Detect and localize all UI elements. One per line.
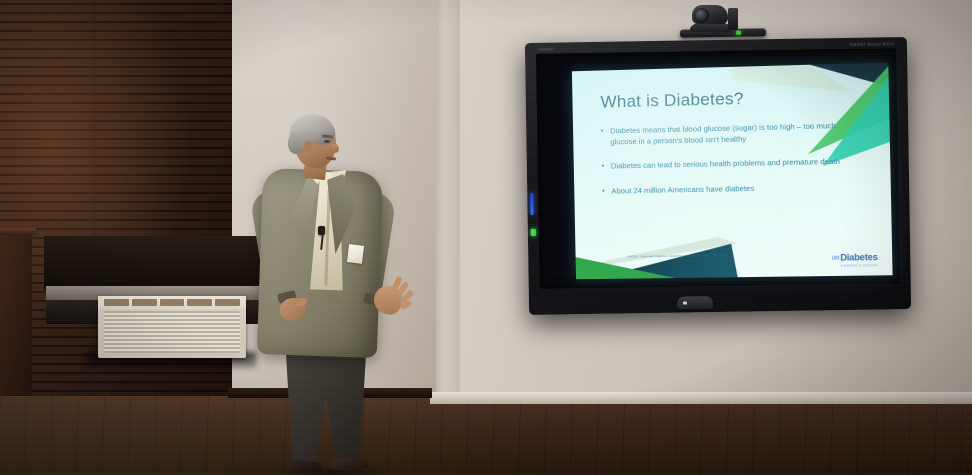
presenter	[252, 108, 432, 475]
hvac-top-vents	[98, 296, 246, 309]
hvac-vent	[160, 299, 185, 306]
presentation-slide: What is Diabetes? Diabetes means that bl…	[572, 63, 893, 280]
display-ir-receiver-module[interactable]	[677, 296, 713, 310]
display-status-led-icon	[530, 193, 533, 215]
display-brand-left: SMART	[539, 47, 555, 52]
presenter-eye	[324, 140, 330, 143]
slide-bullet: Diabetes can lead to serious health prob…	[602, 156, 855, 173]
slide-title: What is Diabetes?	[600, 89, 744, 113]
presentation-room-photo: SMART SMART Board 8000i What is Diabetes…	[0, 0, 972, 475]
wood-floor	[0, 396, 972, 475]
display-screen-area: What is Diabetes? Diabetes means that bl…	[536, 48, 900, 289]
wood-wall-seam	[92, 0, 95, 410]
presenter-pocket-card	[347, 244, 364, 264]
hvac-vent	[104, 299, 129, 306]
ir-sensor-icon	[683, 302, 687, 305]
lectern-top	[0, 228, 36, 235]
presenter-nose	[332, 144, 339, 153]
slide-logo-text: Diabetes	[840, 252, 878, 263]
baseboard-right	[430, 392, 972, 404]
slide-bullet: About 24 million Americans have diabetes	[602, 181, 855, 197]
hvac-vent	[215, 299, 240, 306]
slide-bullet: Diabetes means that blood glucose (sugar…	[601, 120, 854, 148]
lectern	[0, 228, 32, 410]
slide-logo-name: UMDiabetes	[831, 252, 877, 263]
hvac-unit	[98, 296, 246, 358]
camera-lens-icon	[694, 8, 709, 23]
slide-bullet-list: Diabetes means that blood glucose (sugar…	[601, 120, 856, 210]
presenter-shoe-left	[286, 460, 322, 473]
slide-logo-subtitle: RESEARCH CENTER	[832, 263, 878, 268]
camera-status-led-icon	[736, 31, 741, 35]
interactive-flat-panel-display[interactable]: SMART SMART Board 8000i What is Diabetes…	[525, 37, 911, 315]
presenter-ear	[304, 141, 312, 152]
camera-bracket	[728, 8, 738, 30]
slide-logo-prefix: UM	[832, 255, 840, 261]
slide-logo: UMDiabetes RESEARCH CENTER	[831, 252, 877, 268]
hvac-vent	[187, 299, 212, 306]
display-power-led-icon	[531, 229, 536, 236]
presenter-trousers	[280, 346, 372, 470]
display-brand-right: SMART Board 8000i	[850, 41, 895, 47]
hvac-vent	[132, 299, 157, 306]
hvac-grille	[104, 311, 240, 353]
presenter-shoe-right	[330, 458, 368, 471]
window-recess	[44, 236, 284, 290]
